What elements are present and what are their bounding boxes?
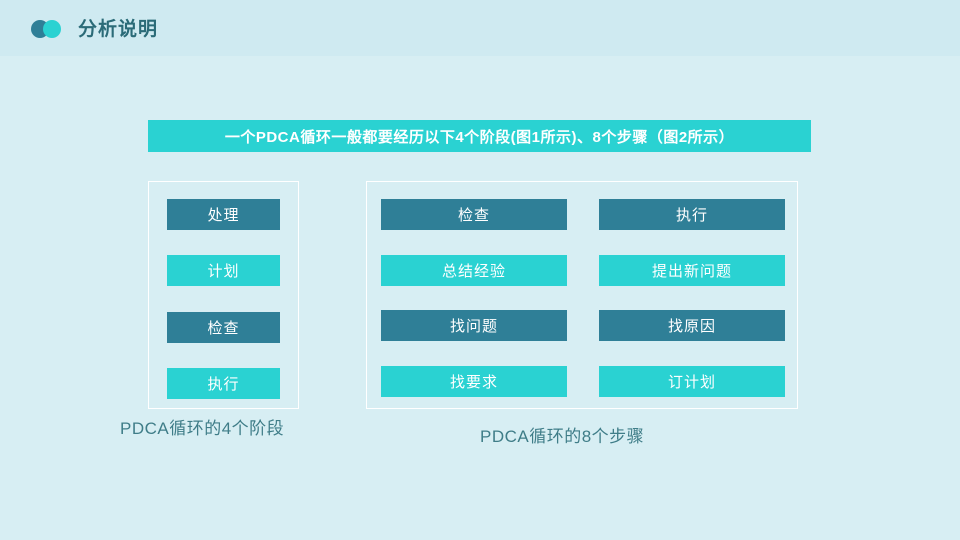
page-title: 分析说明 (78, 14, 158, 41)
right-col1-chip-3[interactable]: 找问题 (381, 310, 567, 341)
header-bar: 分析说明 (0, 0, 960, 56)
left-chip-4[interactable]: 执行 (167, 368, 280, 399)
left-panel-caption: PDCA循环的4个阶段 (120, 414, 284, 439)
right-col2-chip-1[interactable]: 执行 (599, 199, 785, 230)
right-col2-chip-3[interactable]: 找原因 (599, 310, 785, 341)
left-chip-3[interactable]: 检查 (167, 312, 280, 343)
left-chip-1[interactable]: 处理 (167, 199, 280, 230)
left-chip-2[interactable]: 计划 (167, 255, 280, 286)
banner-label: 一个PDCA循环一般都要经历以下4个阶段(图1所示)、8个步骤（图2所示） (225, 126, 734, 147)
two-overlapping-circles-icon (30, 20, 72, 38)
right-col1-chip-4[interactable]: 找要求 (381, 366, 567, 397)
right-panel-caption: PDCA循环的8个步骤 (480, 422, 644, 447)
right-col1-chip-2[interactable]: 总结经验 (381, 255, 567, 286)
right-col2-chip-4[interactable]: 订计划 (599, 366, 785, 397)
banner: 一个PDCA循环一般都要经历以下4个阶段(图1所示)、8个步骤（图2所示） (148, 120, 811, 152)
right-col2-chip-2[interactable]: 提出新问题 (599, 255, 785, 286)
right-col1-chip-1[interactable]: 检查 (381, 199, 567, 230)
